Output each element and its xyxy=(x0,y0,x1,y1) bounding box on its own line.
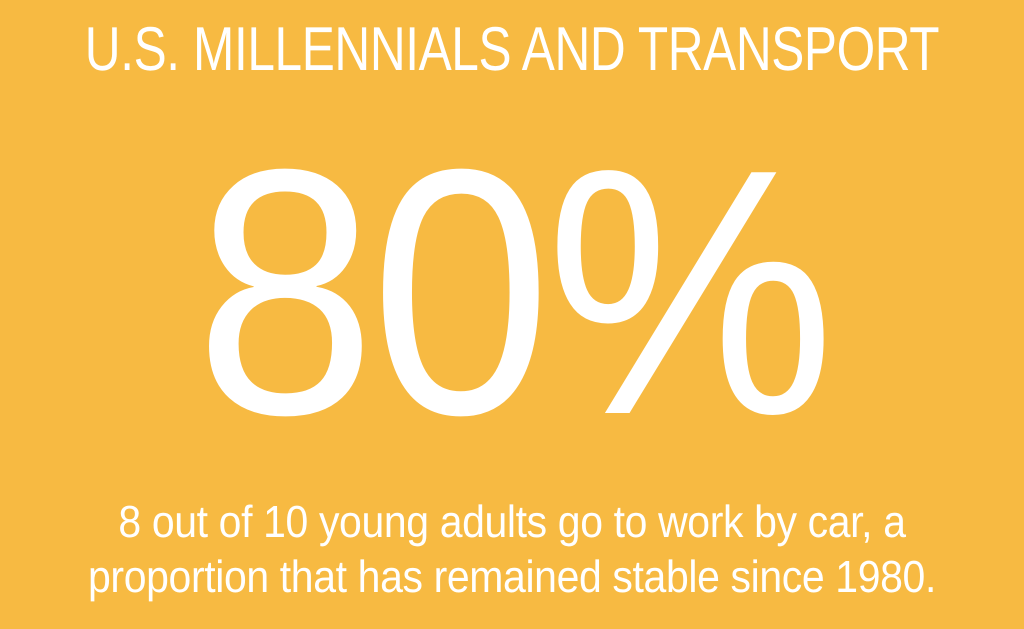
page-title: U.S. MILLENNIALS AND TRANSPORT xyxy=(85,19,939,81)
infographic-canvas: U.S. MILLENNIALS AND TRANSPORT 80% 8 out… xyxy=(0,0,1024,629)
hero-statistic: 80% xyxy=(195,118,830,468)
caption: 8 out of 10 young adults go to work by c… xyxy=(0,494,1024,604)
header: U.S. MILLENNIALS AND TRANSPORT xyxy=(0,0,1024,100)
caption-line-1: 8 out of 10 young adults go to work by c… xyxy=(46,494,978,549)
caption-line-2: proportion that has remained stable sinc… xyxy=(46,549,978,604)
hero-statistic-region: 80% xyxy=(0,118,1024,468)
